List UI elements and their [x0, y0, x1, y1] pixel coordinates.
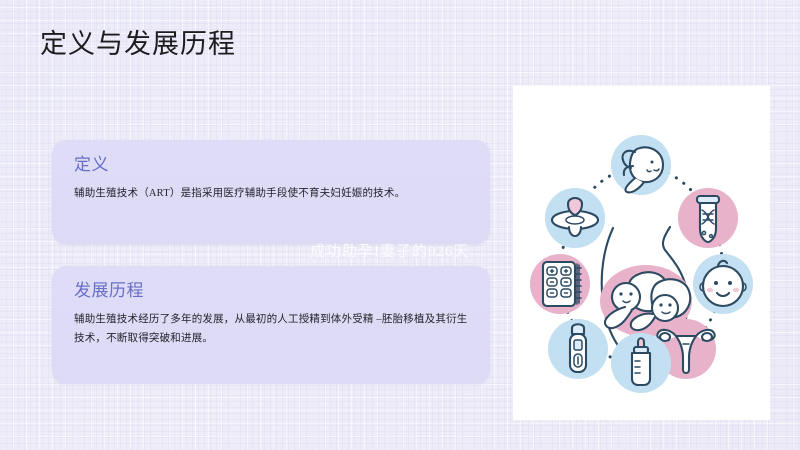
slide-canvas: 定义与发展历程 定义 辅助生殖技术（ART）是指采用医疗辅助手段使不育夫妇妊娠的…: [0, 0, 800, 450]
pacifier-icon: [545, 188, 605, 248]
watermark-text: 成功助孕!妻子的926天: [310, 242, 470, 262]
pill-blister-pack-icon: [530, 254, 590, 314]
assisted-reproduction-infographic: .ln{fill:none;stroke:#2d4a63;stroke-widt…: [513, 86, 770, 420]
fetus-icon: [611, 135, 671, 195]
definition-card-heading: 定义: [74, 154, 109, 176]
illustration-panel: .ln{fill:none;stroke:#2d4a63;stroke-widt…: [513, 86, 770, 420]
definition-card-body: 辅助生殖技术（ART）是指采用医疗辅助手段使不育夫妇妊娠的技术。: [74, 184, 470, 203]
history-card-heading: 发展历程: [74, 280, 144, 302]
page-title: 定义与发展历程: [40, 27, 236, 61]
baby-bottle-icon: [611, 333, 671, 393]
dna-test-tube-icon: [678, 188, 738, 248]
baby-face-icon: [693, 254, 753, 314]
pregnancy-test-icon: [548, 319, 608, 379]
history-card: 发展历程 辅助生殖技术经历了多年的发展，从最初的人工授精到体外受精 –胚胎移植及…: [52, 266, 490, 384]
history-card-body: 辅助生殖技术经历了多年的发展，从最初的人工授精到体外受精 –胚胎移植及其衍生技术…: [74, 310, 470, 348]
definition-card: 定义 辅助生殖技术（ART）是指采用医疗辅助手段使不育夫妇妊娠的技术。: [52, 140, 490, 244]
